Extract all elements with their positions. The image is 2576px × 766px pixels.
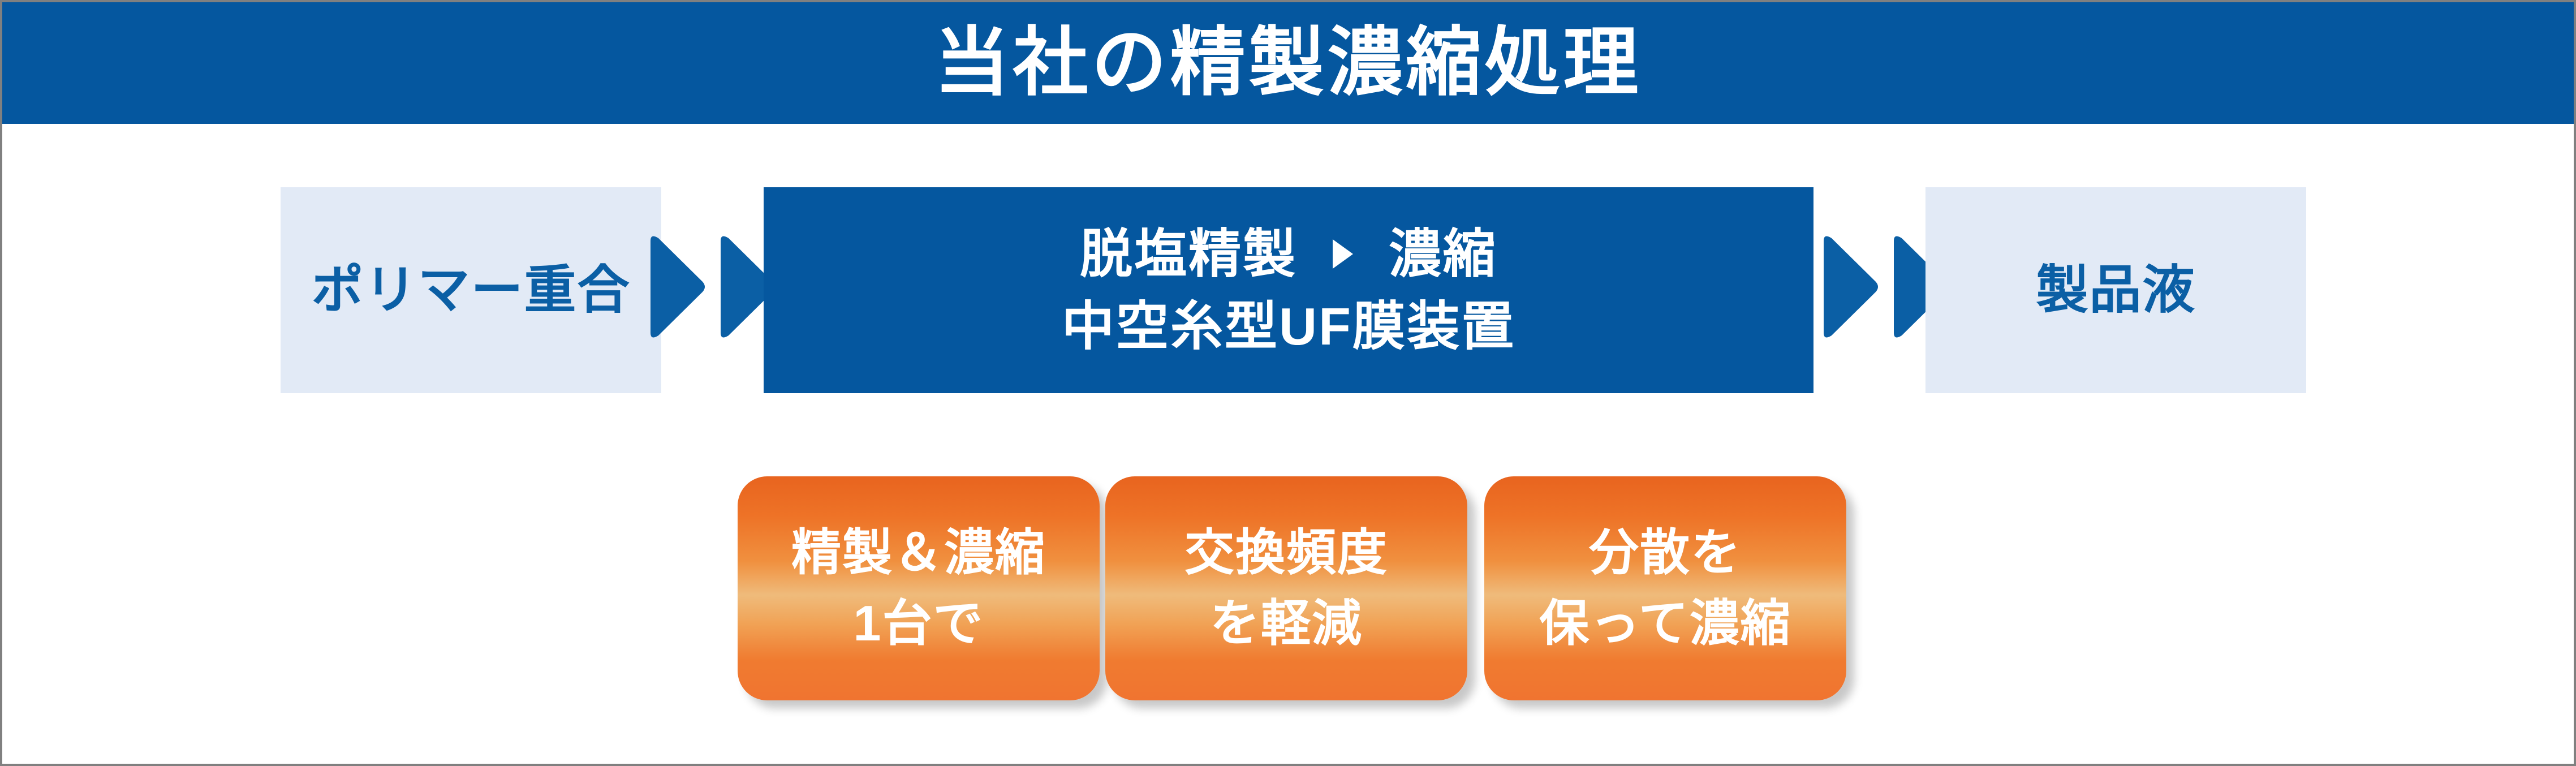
chevron-right-icon: [644, 233, 706, 341]
callout-tail: [1656, 405, 1715, 477]
benefit-callout-line-2: 1台で: [854, 588, 984, 659]
benefit-callout-line-2: 保って濃縮: [1539, 588, 1791, 659]
process-step-desalting-label: 脱塩精製: [1080, 225, 1297, 283]
benefit-callout-line-1: 精製＆濃縮: [791, 518, 1046, 588]
benefit-callout: 分散を 保って濃縮: [1484, 476, 1846, 700]
benefit-callout-line-1: 交換頻度: [1184, 518, 1388, 588]
output-stage-label: 製品液: [2036, 259, 2195, 321]
benefit-callout: 交換頻度 を軽減: [1105, 476, 1467, 700]
process-line-2: 中空糸型UF膜装置: [1062, 290, 1515, 363]
right-triangle-icon: [1333, 239, 1353, 269]
process-stage-box: 脱塩精製 濃縮 中空糸型UF膜装置: [764, 187, 1813, 393]
callout-tail: [1257, 405, 1316, 477]
page-title: 当社の精製濃縮処理: [934, 25, 1642, 101]
output-stage-box: 製品液: [1925, 187, 2306, 393]
header-bar: 当社の精製濃縮処理: [2, 2, 2574, 124]
process-flow-diagram: 当社の精製濃縮処理 ポリマー重合 脱塩精製 濃縮 中空糸型UF膜装置 製品液: [0, 0, 2576, 766]
input-stage-label: ポリマー重合: [311, 259, 630, 321]
flow-arrows-left: [644, 233, 776, 341]
benefit-callout: 精製＆濃縮 1台で: [738, 476, 1100, 700]
callout-tail: [884, 405, 943, 477]
benefit-callout-line-2: を軽減: [1210, 588, 1363, 659]
process-step-concentration-label: 濃縮: [1389, 225, 1497, 283]
input-stage-box: ポリマー重合: [281, 187, 661, 393]
chevron-right-icon: [1817, 233, 1879, 341]
benefit-callout-line-1: 分散を: [1589, 518, 1742, 588]
process-line-1: 脱塩精製 濃縮: [1080, 218, 1497, 290]
